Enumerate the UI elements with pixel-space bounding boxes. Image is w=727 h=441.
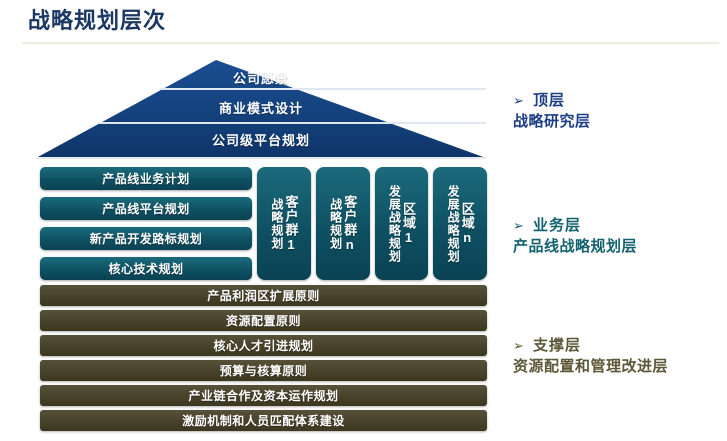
- vertical-column-sub: 发展战略规划: [447, 185, 460, 263]
- plan-box[interactable]: 新产品开发路标规划: [40, 227, 252, 250]
- annotation-top-layer: ➢顶层 战略研究层: [513, 90, 591, 132]
- support-row[interactable]: 产业链合作及资本运作规划: [40, 385, 487, 406]
- support-row[interactable]: 资源配置原则: [40, 310, 487, 331]
- support-row[interactable]: 产品利润区扩展原则: [40, 285, 487, 306]
- support-row[interactable]: 核心人才引进规划: [40, 335, 487, 356]
- vertical-column-head: 区域n: [460, 202, 474, 246]
- annotation-title: 业务层: [533, 217, 581, 234]
- annotation-subtitle: 战略研究层: [513, 111, 591, 132]
- roof-triangle-shape: [36, 60, 486, 160]
- product-line-plan-column: 产品线业务计划 产品线平台规划 新产品开发路标规划 核心技术规划: [40, 167, 252, 280]
- support-row[interactable]: 预算与核算原则: [40, 360, 487, 381]
- annotation-title: 支撑层: [533, 337, 581, 354]
- vertical-column-head: 客户群n: [343, 195, 357, 253]
- vertical-column-head: 区域1: [401, 202, 415, 246]
- annotation-support-layer: ➢支撑层 资源配置和管理改进层: [513, 335, 668, 377]
- plan-box[interactable]: 产品线业务计划: [40, 167, 252, 190]
- vertical-column-sub: 战略规划: [270, 198, 283, 250]
- support-layer: 产品利润区扩展原则 资源配置原则 核心人才引进规划 预算与核算原则 产业链合作及…: [40, 285, 487, 431]
- top-layer-roof: 公司愿景 商业模式设计 公司级平台规划: [36, 60, 486, 160]
- vertical-strategy-column[interactable]: 区域1 发展战略规划: [375, 167, 429, 280]
- annotation-business-layer: ➢业务层 产品线战略规划层: [513, 215, 637, 257]
- vertical-strategy-column[interactable]: 客户群n 战略规划: [316, 167, 370, 280]
- strategy-pyramid-diagram: 公司愿景 商业模式设计 公司级平台规划 产品线业务计划 产品线平台规划 新产品开…: [0, 0, 500, 441]
- arrow-bullet-icon: ➢: [513, 215, 533, 236]
- plan-box[interactable]: 产品线平台规划: [40, 197, 252, 220]
- plan-box[interactable]: 核心技术规划: [40, 257, 252, 280]
- vertical-strategy-column[interactable]: 客户群1 战略规划: [257, 167, 311, 280]
- annotation-title: 顶层: [533, 92, 565, 109]
- arrow-bullet-icon: ➢: [513, 335, 533, 356]
- vertical-column-head: 客户群1: [284, 195, 298, 253]
- vertical-strategy-column[interactable]: 区域n 发展战略规划: [433, 167, 487, 280]
- vertical-column-sub: 战略规划: [329, 198, 342, 250]
- annotation-subtitle: 产品线战略规划层: [513, 236, 637, 257]
- business-layer: 产品线业务计划 产品线平台规划 新产品开发路标规划 核心技术规划 客户群1 战略…: [40, 167, 487, 280]
- arrow-bullet-icon: ➢: [513, 90, 533, 111]
- annotation-subtitle: 资源配置和管理改进层: [513, 356, 668, 377]
- vertical-column-sub: 发展战略规划: [388, 185, 401, 263]
- support-row[interactable]: 激励机制和人员匹配体系建设: [40, 410, 487, 431]
